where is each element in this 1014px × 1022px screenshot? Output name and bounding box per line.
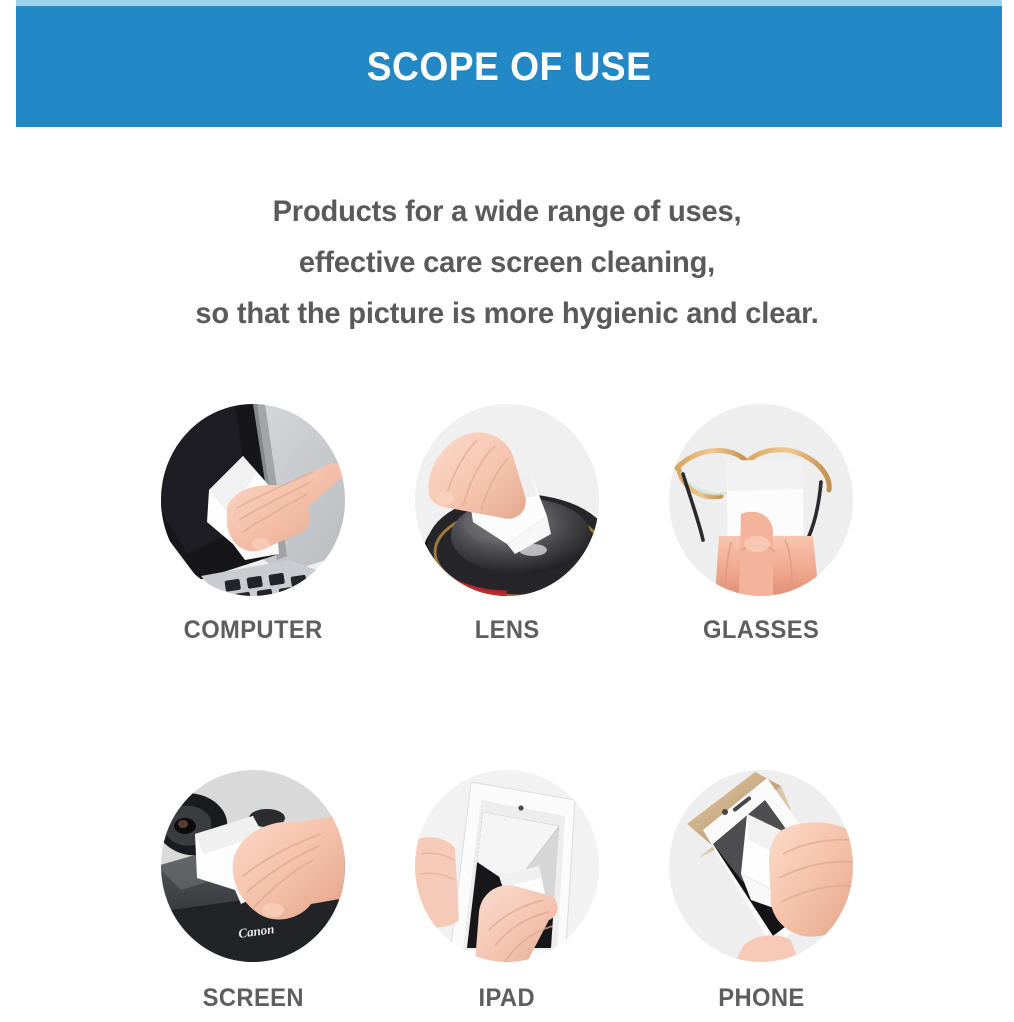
camera-body-wipe-photo: Canon	[161, 770, 345, 962]
intro-paragraph: Products for a wide range of uses, effec…	[0, 186, 1014, 339]
banner-background: SCOPE OF USE	[16, 6, 1002, 127]
use-case-label: LENS	[475, 616, 540, 645]
use-case-phone: PHONE	[668, 770, 854, 1013]
use-case-ipad: IPAD	[414, 770, 600, 1013]
use-case-row-bottom: Canon	[0, 770, 1014, 1013]
use-case-grid: COMPUTER	[0, 404, 1014, 1013]
intro-line-3: so that the picture is more hygienic and…	[15, 288, 999, 339]
use-case-computer: COMPUTER	[160, 404, 346, 645]
use-case-label: GLASSES	[703, 616, 819, 645]
use-case-screen: Canon	[160, 770, 346, 1013]
use-case-label: COMPUTER	[184, 616, 323, 645]
use-case-row-top: COMPUTER	[0, 404, 1014, 645]
header-banner: SCOPE OF USE	[0, 0, 1014, 130]
use-case-label: SCREEN	[202, 984, 303, 1013]
smartphone-screen-wipe-photo	[669, 770, 853, 962]
use-case-label: PHONE	[718, 984, 804, 1013]
laptop-screen-wipe-photo	[161, 404, 345, 596]
use-case-lens: LENS	[414, 404, 600, 645]
intro-line-1: Products for a wide range of uses,	[15, 186, 999, 237]
tablet-screen-wipe-photo	[415, 770, 599, 962]
camera-lens-wipe-photo	[415, 404, 599, 596]
eyeglasses-wipe-photo	[669, 404, 853, 596]
use-case-glasses: GLASSES	[668, 404, 854, 645]
intro-line-2: effective care screen cleaning,	[15, 237, 999, 288]
page-title: SCOPE OF USE	[367, 45, 652, 90]
use-case-label: IPAD	[479, 984, 536, 1013]
